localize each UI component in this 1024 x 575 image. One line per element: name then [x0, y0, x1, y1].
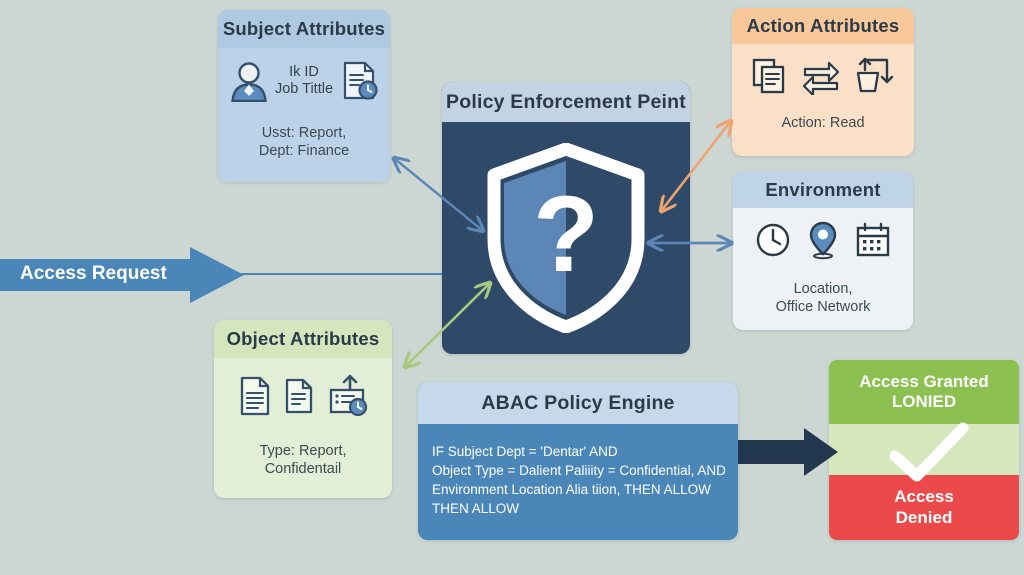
object-attributes-body: Type: Report, Confidentail [214, 358, 392, 478]
subject-attributes-icon-row: Ik ID Job Tittle [218, 60, 390, 102]
calendar-icon [854, 221, 892, 259]
location-pin-icon [806, 220, 840, 260]
abac-rule-line: IF Subject Dept = 'Dentar' AND [432, 442, 724, 461]
access-denied-panel[interactable]: Access Denied [829, 475, 1019, 540]
environment-card[interactable]: Environment [733, 172, 913, 330]
abac-to-decision-connector [738, 426, 838, 478]
subject-attributes-title: Subject Attributes [218, 10, 390, 48]
shield-question-icon: ? [482, 143, 650, 333]
action-attributes-card[interactable]: Action Attributes Action: Read [732, 8, 914, 156]
abac-policy-engine-title: ABAC Policy Engine [418, 382, 738, 424]
copy-icon [751, 57, 787, 95]
abac-policy-rules: IF Subject Dept = 'Dentar' AND Object Ty… [418, 424, 738, 519]
object-attributes-title: Object Attributes [214, 320, 392, 358]
access-request-label: Access Request [20, 263, 167, 285]
subject-to-pep-connector [386, 152, 490, 236]
abac-rule-line: THEN ALLOW [432, 499, 724, 518]
environment-caption: Location, Office Network [776, 280, 871, 316]
document-clock-icon [339, 60, 379, 102]
decision-result-stack: Access Granted LONIED Access Denied [829, 360, 1019, 540]
access-request-line [196, 273, 444, 275]
abac-policy-engine-card[interactable]: ABAC Policy Engine IF Subject Dept = 'De… [418, 382, 738, 540]
environment-body: Location, Office Network [733, 208, 913, 316]
action-attributes-title: Action Attributes [732, 8, 914, 44]
document-icon [238, 375, 272, 417]
action-attributes-body: Action: Read [732, 44, 914, 132]
pep-to-environment-connector [644, 232, 738, 254]
access-denied-label: Access Denied [894, 487, 954, 528]
subject-attributes-card[interactable]: Subject Attributes Ik ID Job Tittle Usst… [218, 10, 390, 182]
environment-title: Environment [733, 172, 913, 208]
check-mark-icon [889, 422, 969, 484]
pep-to-action-connector [652, 112, 744, 220]
action-attributes-icon-row [751, 56, 895, 96]
document-upload-clock-icon [326, 374, 368, 418]
environment-icon-row [754, 220, 892, 260]
access-granted-label: Access Granted LONIED [859, 372, 988, 411]
access-granted-panel[interactable]: Access Granted LONIED [829, 360, 1019, 424]
clock-icon [754, 221, 792, 259]
subject-inline-text: Ik ID Job Tittle [275, 64, 333, 99]
object-attributes-card[interactable]: Object Attributes [214, 320, 392, 498]
object-attributes-icon-row [238, 374, 368, 418]
subject-attributes-caption: Usst: Report, Dept: Finance [259, 124, 349, 160]
svg-text:?: ? [533, 173, 599, 294]
user-icon [229, 60, 269, 102]
object-attributes-caption: Type: Report, Confidentail [259, 442, 346, 478]
upload-download-icon [855, 56, 895, 96]
abac-rule-line: Environment Location Aliа tiion, THEN AL… [432, 480, 724, 499]
abac-rule-line: Object Type = Dalient Paliiity = Confide… [432, 461, 724, 480]
object-to-pep-connector [398, 276, 498, 374]
diagram-canvas: Access Request Subject Attributes Ik ID … [0, 0, 1024, 575]
document-lines-icon [284, 377, 314, 415]
exchange-arrows-icon [801, 57, 841, 95]
subject-attributes-body: Ik ID Job Tittle Usst: Report, Dept: Fin… [218, 48, 390, 160]
action-attributes-caption: Action: Read [781, 114, 864, 132]
